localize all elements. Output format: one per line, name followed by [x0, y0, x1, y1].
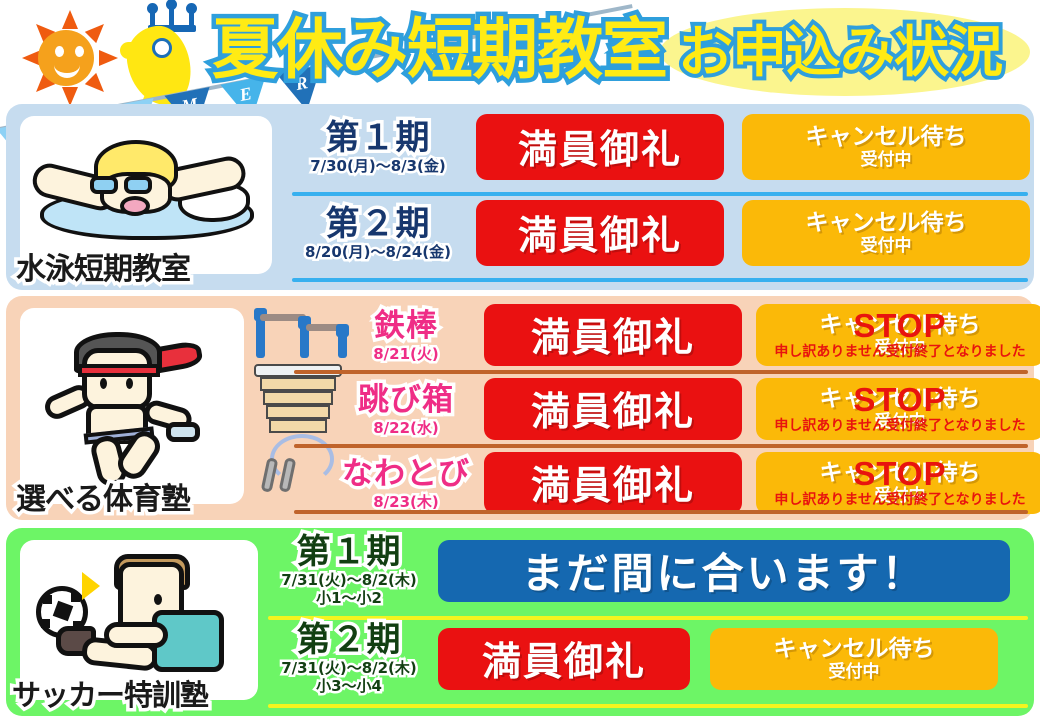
- title-block: 夏休み短期教室 お申込み状況: [198, 2, 1040, 100]
- page-title: 夏休み短期教室: [212, 9, 667, 91]
- status-badge-full: 満員御礼: [484, 378, 742, 440]
- swimmer-icon: [28, 126, 264, 246]
- row-divider: [294, 370, 1028, 374]
- term-dates: 7/31(火)～8/2(木): [274, 659, 424, 677]
- page-subtitle: お申込み状況: [678, 9, 1002, 95]
- waitlist-label: キャンセル待ち: [774, 636, 935, 662]
- poster-canvas: S U M M E R 夏休み短期教室 お申込み状況: [0, 0, 1040, 720]
- term-label: 第１期: [274, 534, 424, 571]
- term-block: 第１期 7/30(月)～8/3(金): [292, 120, 464, 175]
- term-label: 鉄棒: [336, 308, 476, 345]
- stop-overlay-text: STOP: [756, 381, 1040, 419]
- term-dates: 7/30(月)～8/3(金): [292, 157, 464, 175]
- category-label-soccer: サッカー特訓塾: [12, 672, 208, 714]
- runner-icon: [38, 320, 218, 470]
- term-block: 第２期 8/20(月)～8/24(金): [292, 206, 464, 261]
- stop-overlay-text: STOP: [756, 455, 1040, 493]
- category-label-gym: 選べる体育塾: [16, 474, 190, 518]
- soccer-player-icon: [34, 550, 240, 688]
- closed-note: 申し訳ありません受付終了となりました: [756, 415, 1040, 435]
- status-badge-open: まだ間に合います！: [438, 540, 1010, 602]
- term-label: 第１期: [292, 120, 464, 157]
- term-label: 第２期: [292, 206, 464, 243]
- category-label-swimming: 水泳短期教室: [16, 244, 190, 288]
- waitlist-badge-closed: キャンセル待ち 受付中 STOP 申し訳ありません受付終了となりました: [756, 378, 1040, 440]
- row-divider: [268, 704, 1028, 708]
- waitlist-badge[interactable]: キャンセル待ち 受付中: [742, 200, 1030, 266]
- term-dates: 8/23(木): [336, 493, 476, 511]
- closed-note: 申し訳ありません受付終了となりました: [756, 489, 1040, 509]
- waitlist-sublabel: 受付中: [829, 662, 880, 682]
- status-badge-full: 満員御礼: [484, 452, 742, 514]
- waitlist-sublabel: 受付中: [861, 150, 912, 170]
- term-block: なわとび 8/23(木): [336, 456, 476, 511]
- waitlist-badge[interactable]: キャンセル待ち 受付中: [710, 628, 998, 690]
- status-badge-full: 満員御礼: [476, 200, 724, 266]
- term-dates: 8/21(火): [336, 345, 476, 363]
- term-dates: 8/22(水): [336, 419, 476, 437]
- status-badge-full: 満員御礼: [476, 114, 724, 180]
- term-block: 第２期 7/31(火)～8/2(木) 小3～小4: [274, 622, 424, 695]
- poster-header: S U M M E R 夏休み短期教室 お申込み状況: [0, 0, 1040, 103]
- term-block: 第１期 7/31(火)～8/2(木) 小1～小2: [274, 534, 424, 607]
- waitlist-label: キャンセル待ち: [806, 210, 967, 236]
- term-dates: 8/20(月)～8/24(金): [292, 243, 464, 261]
- term-block: 鉄棒 8/21(火): [336, 308, 476, 363]
- section-soccer: サッカー特訓塾 第１期 7/31(火)～8/2(木) 小1～小2 まだ間に合いま…: [6, 528, 1034, 716]
- vaulting-box-icon: [252, 364, 348, 434]
- term-grades: 小1～小2: [274, 589, 424, 607]
- term-label: 跳び箱: [336, 382, 476, 419]
- section-gym: 選べる体育塾 鉄棒 8/21(火) 満員御礼 キャンセル待ち 受付中 STOP …: [6, 296, 1034, 520]
- term-label: 第２期: [274, 622, 424, 659]
- term-block: 跳び箱 8/22(水): [336, 382, 476, 437]
- term-label: なわとび: [336, 456, 476, 493]
- section-swimming: 水泳短期教室 第１期 7/30(月)～8/3(金) 満員御礼 キャンセル待ち 受…: [6, 104, 1034, 290]
- term-dates: 7/31(火)～8/2(木): [274, 571, 424, 589]
- waitlist-badge[interactable]: キャンセル待ち 受付中: [742, 114, 1030, 180]
- jump-rope-icon: [256, 434, 342, 490]
- row-divider: [294, 444, 1028, 448]
- row-divider: [292, 278, 1028, 282]
- waitlist-sublabel: 受付中: [861, 236, 912, 256]
- waitlist-badge-closed: キャンセル待ち 受付中 STOP 申し訳ありません受付終了となりました: [756, 452, 1040, 514]
- status-badge-full: 満員御礼: [484, 304, 742, 366]
- stop-overlay-text: STOP: [756, 307, 1040, 345]
- status-badge-full: 満員御礼: [438, 628, 690, 690]
- waitlist-badge-closed: キャンセル待ち 受付中 STOP 申し訳ありません受付終了となりました: [756, 304, 1040, 366]
- term-grades: 小3～小4: [274, 677, 424, 695]
- row-divider: [294, 510, 1028, 514]
- waitlist-label: キャンセル待ち: [806, 124, 967, 150]
- closed-note: 申し訳ありません受付終了となりました: [756, 341, 1040, 361]
- row-divider: [292, 192, 1028, 196]
